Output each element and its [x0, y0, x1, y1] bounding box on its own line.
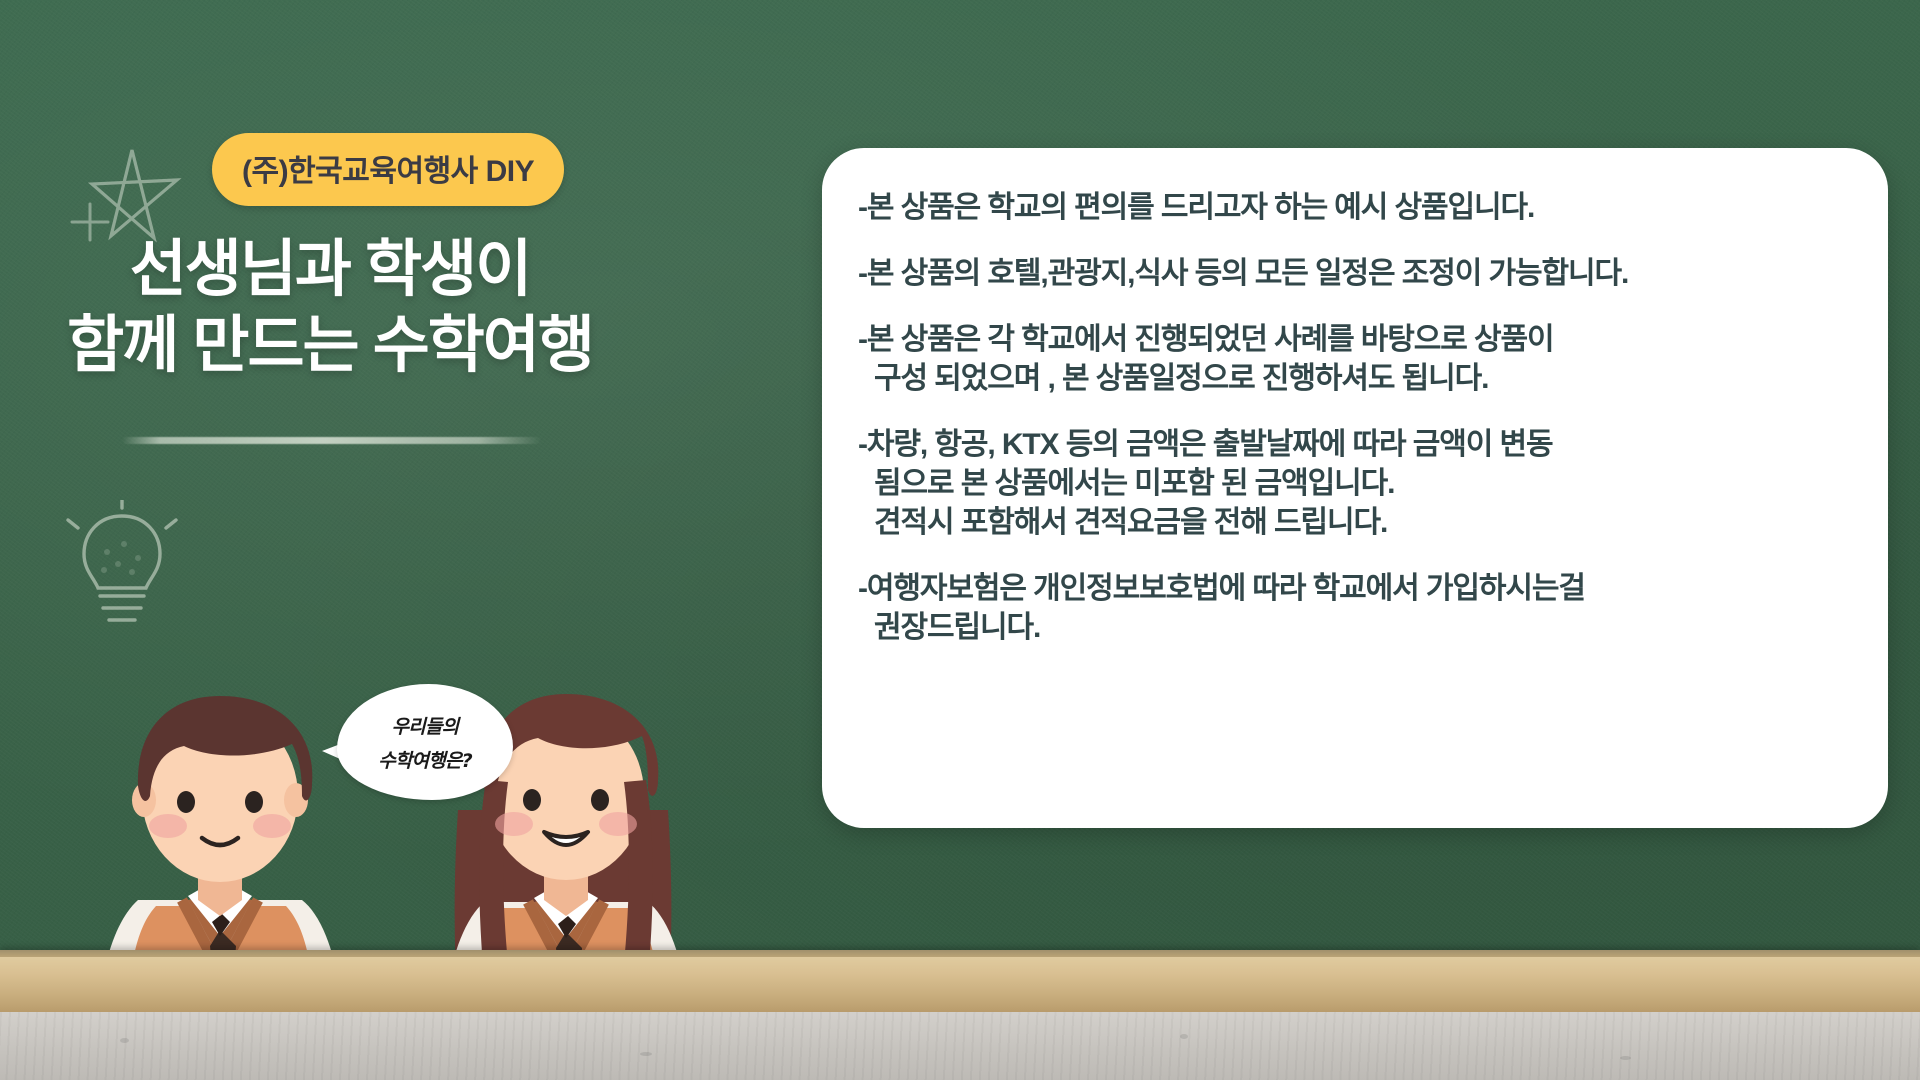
- title-line-2: 함께 만드는 수학여행: [0, 308, 660, 384]
- notes-card: -본 상품은 학교의 편의를 드리고자 하는 예시 상품입니다.-본 상품의 호…: [822, 148, 1888, 828]
- note-bullet-line: 됨으로 본 상품에서는 미포함 된 금액입니다.: [858, 464, 1868, 503]
- note-bullet: -본 상품의 호텔,관광지,식사 등의 모든 일정은 조정이 가능합니다.: [858, 254, 1868, 293]
- notes-list: -본 상품은 학교의 편의를 드리고자 하는 예시 상품입니다.-본 상품의 호…: [858, 188, 1868, 647]
- note-bullet-line: -차량, 항공, KTX 등의 금액은 출발날짜에 따라 금액이 변동: [858, 425, 1868, 464]
- note-bullet-line: 구성 되었으며 , 본 상품일정으로 진행하셔도 됩니다.: [858, 359, 1868, 398]
- title-line-1: 선생님과 학생이: [0, 232, 660, 308]
- slide-canvas: (주)한국교육여행사 DIY 선생님과 학생이 함께 만드는 수학여행: [0, 0, 1920, 1080]
- page-title: 선생님과 학생이 함께 만드는 수학여행: [0, 232, 660, 383]
- note-bullet: -본 상품은 각 학교에서 진행되었던 사례를 바탕으로 상품이구성 되었으며 …: [858, 320, 1868, 398]
- company-badge: (주)한국교육여행사 DIY: [212, 133, 564, 206]
- note-bullet-line: -본 상품의 호텔,관광지,식사 등의 모든 일정은 조정이 가능합니다.: [858, 254, 1868, 293]
- classroom-floor: [0, 1012, 1920, 1080]
- note-bullet-line: 견적시 포함해서 견적요금을 전해 드립니다.: [858, 503, 1868, 542]
- chalk-rail-edge: [0, 950, 1920, 957]
- note-bullet: -본 상품은 학교의 편의를 드리고자 하는 예시 상품입니다.: [858, 188, 1868, 227]
- chalk-rail: [0, 950, 1920, 1012]
- speech-bubble-line-2: 수학여행은?: [378, 746, 472, 773]
- speech-bubble-line-1: 우리들의: [392, 712, 459, 739]
- note-bullet: -여행자보험은 개인정보보호법에 따라 학교에서 가입하시는걸권장드립니다.: [858, 569, 1868, 647]
- note-bullet: -차량, 항공, KTX 등의 금액은 출발날짜에 따라 금액이 변동됨으로 본…: [858, 425, 1868, 542]
- chalk-divider: [122, 437, 542, 444]
- speech-bubble: 우리들의 수학여행은?: [337, 684, 513, 800]
- note-bullet-line: -본 상품은 학교의 편의를 드리고자 하는 예시 상품입니다.: [858, 188, 1868, 227]
- note-bullet-line: -본 상품은 각 학교에서 진행되었던 사례를 바탕으로 상품이: [858, 320, 1868, 359]
- note-bullet-line: 권장드립니다.: [858, 608, 1868, 647]
- note-bullet-line: -여행자보험은 개인정보보호법에 따라 학교에서 가입하시는걸: [858, 569, 1868, 608]
